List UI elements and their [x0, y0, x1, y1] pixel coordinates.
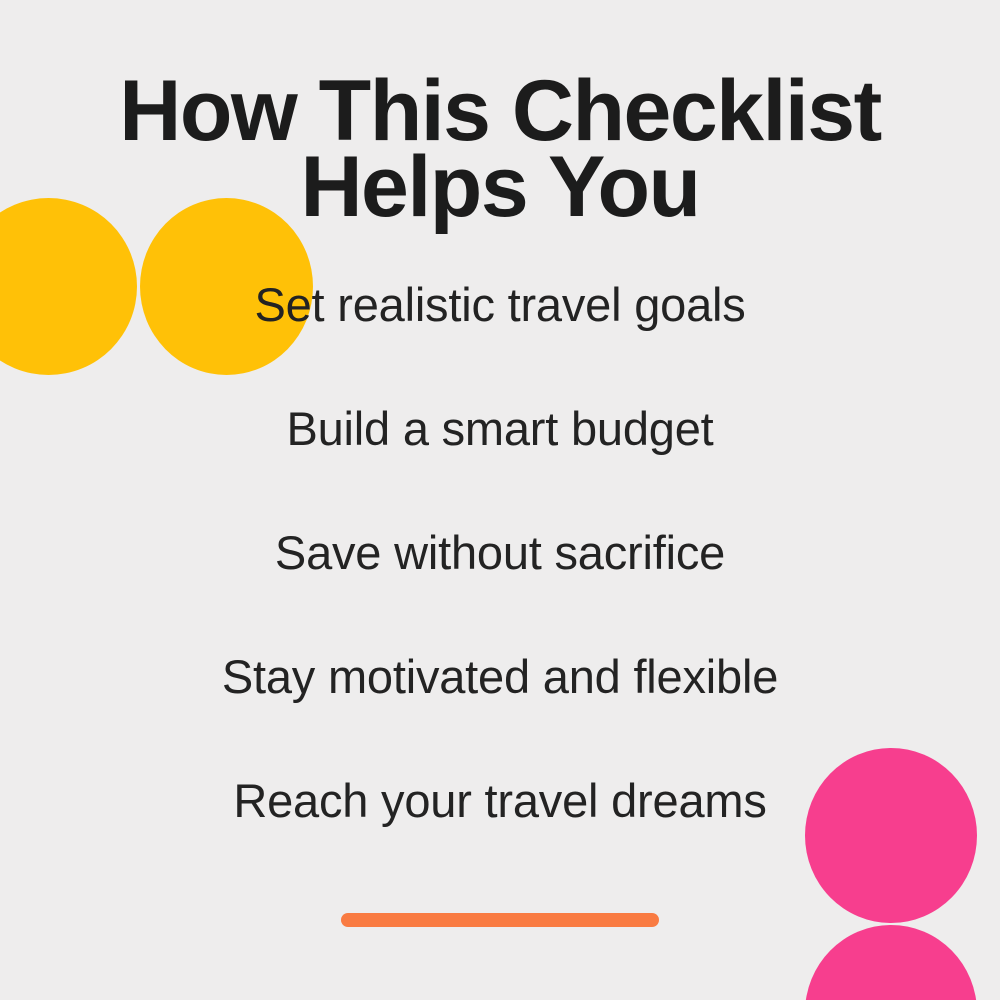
page-title-line-1: How This Checklist — [0, 73, 1000, 149]
accent-bar-decoration — [341, 913, 659, 927]
benefit-item-1: Set realistic travel goals — [0, 276, 1000, 400]
page-title-line-2: Helps You — [0, 149, 1000, 225]
pink-circle-bottom-decoration — [805, 925, 977, 1000]
page-title: How This Checklist Helps You — [0, 73, 1000, 225]
poster-canvas: How This Checklist Helps You Set realist… — [0, 0, 1000, 1000]
benefit-item-3: Save without sacrifice — [0, 524, 1000, 648]
benefits-list: Set realistic travel goals Build a smart… — [0, 276, 1000, 896]
benefit-item-5: Reach your travel dreams — [0, 772, 1000, 896]
benefit-item-2: Build a smart budget — [0, 400, 1000, 524]
benefit-item-4: Stay motivated and flexible — [0, 648, 1000, 772]
